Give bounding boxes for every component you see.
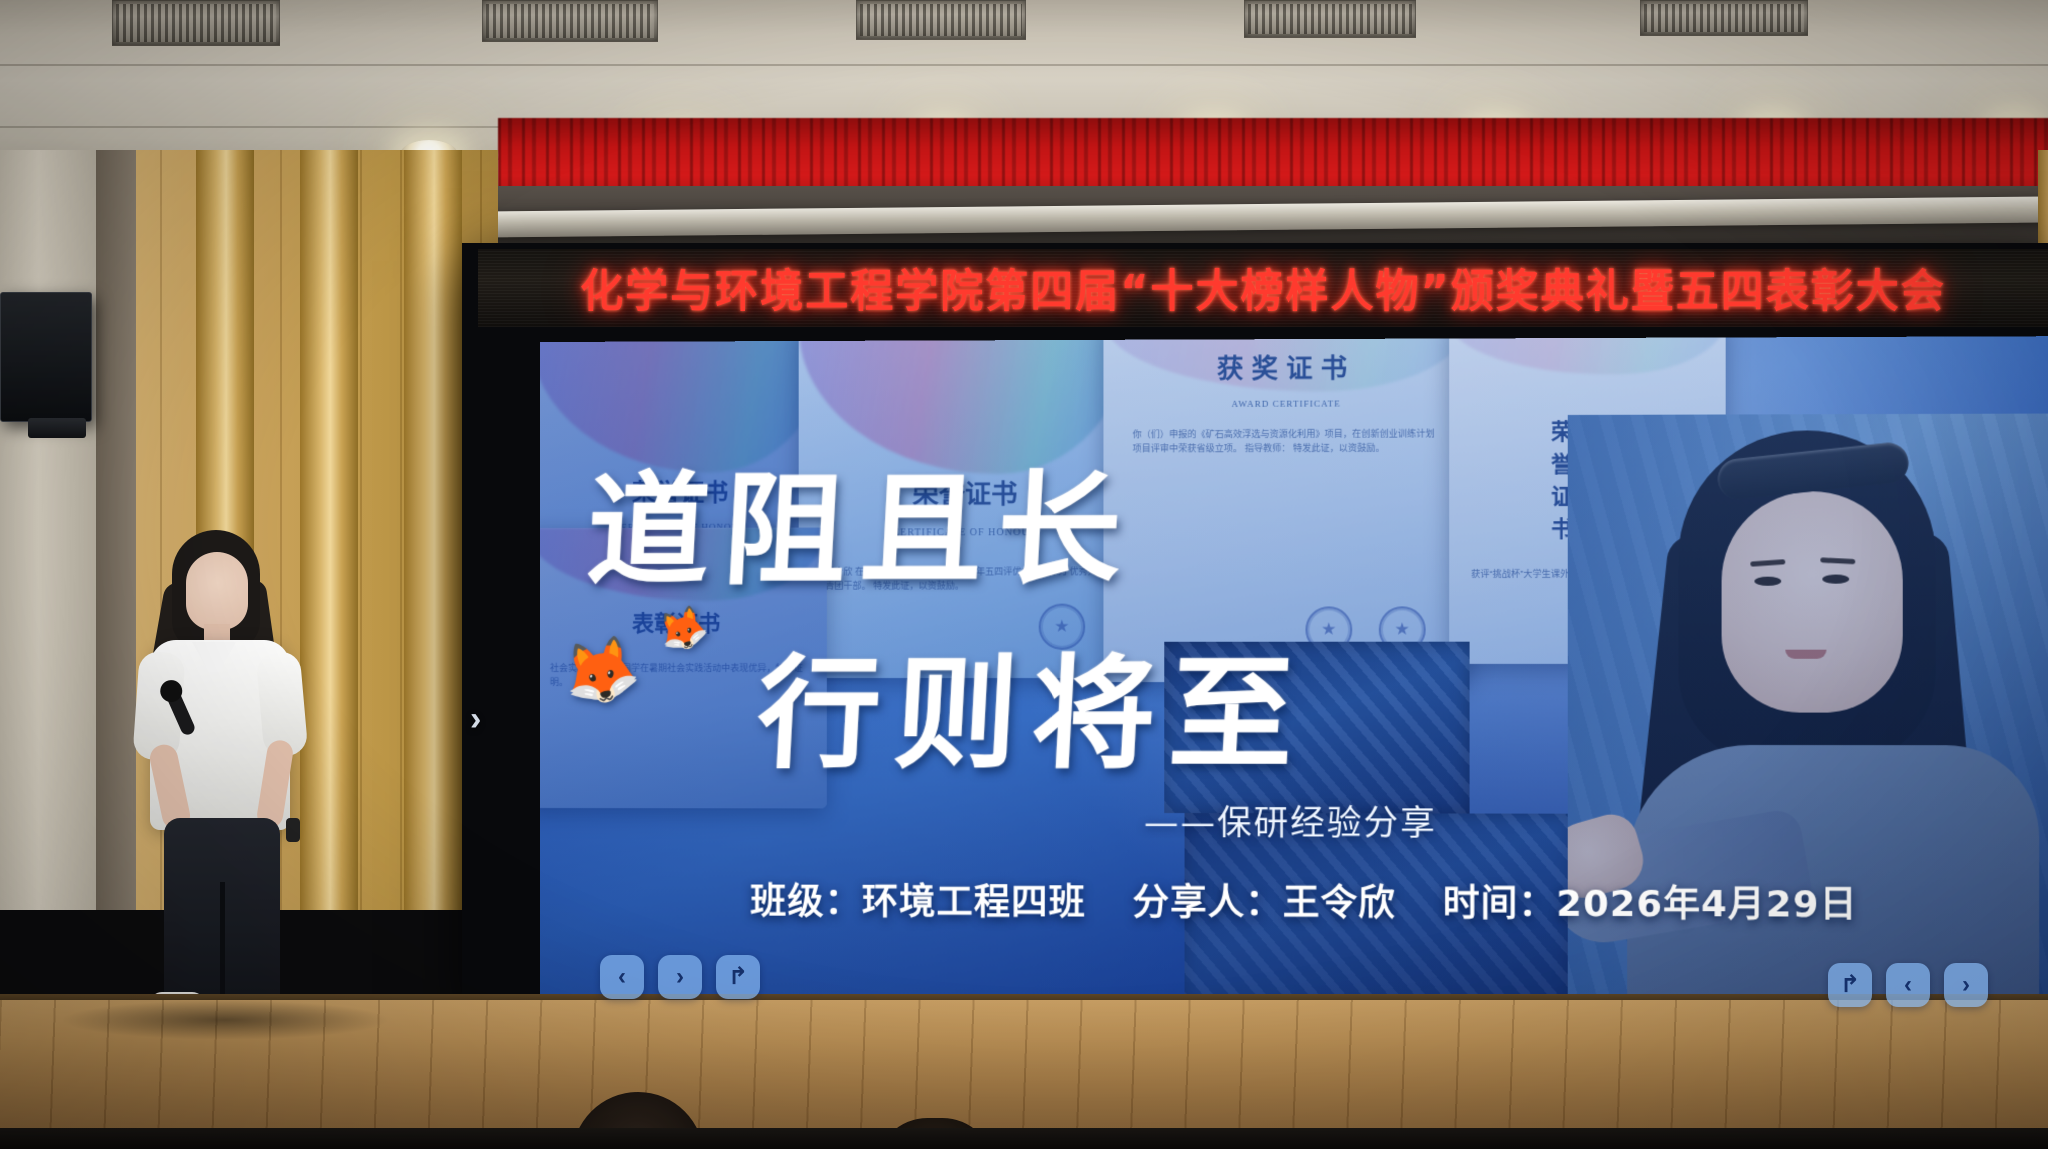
- slide-title-line-1: 道阻且长: [583, 429, 1443, 608]
- presenter-face: [186, 552, 248, 630]
- meta-label-time: 时间：: [1443, 883, 1556, 925]
- dove-icon: 🦊: [555, 629, 646, 717]
- presenter-shadow: [60, 1000, 390, 1040]
- meta-label-class: 班级：: [750, 882, 862, 923]
- ceiling-vent: [1244, 0, 1416, 38]
- speaker-mount-bracket: [28, 418, 86, 438]
- prev-button[interactable]: ‹: [600, 955, 644, 999]
- meta-item-time: 时间：2026年4月29日: [1443, 874, 1858, 928]
- ceiling-vent: [482, 0, 658, 42]
- slide-meta-row: 班级：环境工程四班 分享人：王令欣 时间：2026年4月29日: [540, 872, 2048, 929]
- player-controls-right[interactable]: ↱ ‹ ›: [1828, 963, 1988, 1007]
- slide-subtitle: ——保研经验分享: [1144, 795, 1437, 845]
- led-banner: 化学与环境工程学院第四届“十大榜样人物”颁奖典礼暨五四表彰大会: [478, 249, 2048, 327]
- meta-value-class: 环境工程四班: [862, 882, 1086, 924]
- player-controls-left[interactable]: ‹ › ↱: [600, 955, 760, 999]
- prev-button[interactable]: ‹: [1886, 963, 1930, 1007]
- led-banner-text: 化学与环境工程学院第四届“十大榜样人物”颁奖典礼暨五四表彰大会: [580, 256, 1946, 320]
- meta-item-class: 班级：环境工程四班: [750, 872, 1086, 925]
- presentation-slide[interactable]: 荣誉证书 CERTIFICATE OF HONOUR 王令欣同学在武汉工程大学 …: [540, 336, 2048, 1008]
- presentation-clicker: [286, 818, 300, 842]
- meta-value-time: 2026年4月29日: [1556, 883, 1857, 925]
- dove-decoration: 🦊 🦊: [540, 600, 771, 720]
- slide-next-arrow-icon[interactable]: ›: [470, 700, 481, 739]
- meta-label-presenter: 分享人：: [1133, 882, 1283, 924]
- ceiling-vent: [1640, 0, 1808, 36]
- meta-item-presenter: 分享人：王令欣: [1133, 873, 1396, 926]
- presenter-leg-gap: [220, 882, 225, 1004]
- share-button[interactable]: ↱: [716, 955, 760, 999]
- wall-speaker: [0, 292, 92, 422]
- share-button[interactable]: ↱: [1828, 963, 1872, 1007]
- screenshot-root: 化学与环境工程学院第四届“十大榜样人物”颁奖典礼暨五四表彰大会 荣誉证书 CER…: [0, 0, 2048, 1149]
- dove-icon: 🦊: [652, 599, 714, 659]
- ceiling-vent: [112, 0, 280, 46]
- meta-value-presenter: 王令欣: [1283, 883, 1396, 925]
- ceiling-vent: [856, 0, 1026, 40]
- foreground-bar: [0, 1128, 2048, 1149]
- ceiling-seam: [0, 64, 2048, 66]
- wall-pillar: [404, 150, 462, 910]
- left-wall-panel: [0, 150, 96, 910]
- next-button[interactable]: ›: [658, 955, 702, 999]
- slide-title-line-2: 行则将至: [754, 614, 1444, 793]
- presenter: [128, 530, 318, 1000]
- next-button[interactable]: ›: [1944, 963, 1988, 1007]
